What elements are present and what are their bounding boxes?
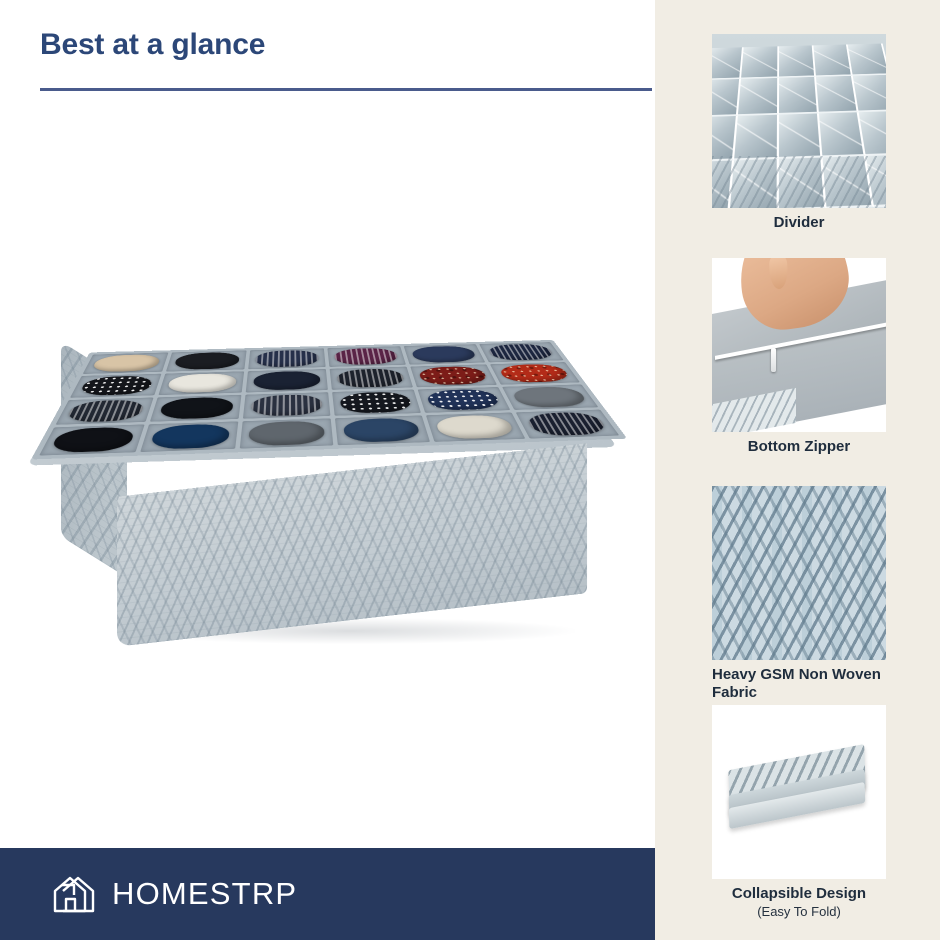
rolled-item bbox=[64, 400, 146, 423]
feature-label-fabric: Heavy GSM Non Woven Fabric bbox=[712, 666, 886, 701]
divider-base-fabric bbox=[712, 156, 886, 208]
compartment bbox=[248, 348, 325, 369]
feature-card-fabric: Heavy GSM Non Woven Fabric bbox=[712, 486, 886, 701]
divider-cell bbox=[712, 47, 744, 80]
divider-cell bbox=[779, 45, 816, 78]
divider-cell bbox=[741, 46, 779, 79]
feature-card-collapsible: Collapsible Design (Easy To Fold) bbox=[712, 705, 886, 919]
compartment bbox=[150, 395, 242, 422]
feature-card-bottom-zipper: Bottom Zipper bbox=[712, 258, 886, 456]
feature-label-divider: Divider bbox=[712, 214, 886, 232]
compartment bbox=[516, 410, 620, 439]
compartment bbox=[479, 342, 563, 362]
organizer-front-panel bbox=[117, 443, 587, 647]
rolled-item bbox=[78, 376, 155, 396]
feature-label-bottom-zipper: Bottom Zipper bbox=[712, 438, 886, 456]
zipper-pull-tab bbox=[771, 348, 776, 372]
rolled-item bbox=[173, 352, 241, 370]
divider-cell bbox=[816, 76, 859, 114]
drawer-organizer-illustration bbox=[55, 270, 625, 660]
rolled-item bbox=[342, 418, 422, 443]
house-logo-icon bbox=[52, 873, 98, 915]
divider-cell bbox=[738, 78, 779, 116]
collapsible-design-image bbox=[712, 705, 886, 879]
zipper-art bbox=[712, 258, 886, 432]
divider-grid-image bbox=[712, 34, 886, 208]
rolled-item bbox=[333, 348, 399, 365]
compartment bbox=[490, 362, 580, 385]
brand-lockup: HOMESTRP bbox=[52, 873, 297, 915]
compartment bbox=[39, 424, 145, 455]
folded-organizer-art bbox=[712, 705, 886, 879]
main-content-column: Best at a glance bbox=[0, 0, 655, 940]
rolled-item bbox=[158, 397, 235, 420]
compartment bbox=[426, 412, 525, 441]
divider-cell bbox=[848, 43, 886, 75]
compartment bbox=[418, 387, 511, 413]
divider-art bbox=[712, 34, 886, 208]
hero-product-image bbox=[55, 270, 625, 660]
divider-cell bbox=[814, 44, 854, 77]
compartment bbox=[166, 350, 247, 371]
rolled-item bbox=[166, 373, 238, 393]
fabric-texture bbox=[117, 443, 587, 647]
divider-cell bbox=[779, 113, 823, 158]
finger bbox=[769, 258, 789, 289]
compartment bbox=[56, 397, 154, 424]
organizer-compartment-grid bbox=[31, 340, 627, 460]
feature-sublabel-collapsible: (Easy To Fold) bbox=[712, 904, 886, 920]
rolled-item bbox=[149, 424, 231, 450]
rolled-item bbox=[336, 368, 406, 387]
compartment bbox=[327, 346, 406, 367]
compartment bbox=[404, 344, 486, 364]
fabric-swatch-art bbox=[712, 486, 886, 660]
compartment bbox=[335, 415, 430, 445]
product-infographic-page: Best at a glance bbox=[0, 0, 940, 940]
compartment bbox=[140, 421, 238, 452]
rolled-item bbox=[339, 392, 414, 414]
compartment bbox=[70, 374, 161, 398]
compartment bbox=[246, 369, 328, 393]
rolled-item bbox=[48, 427, 137, 453]
title-divider-rule bbox=[40, 88, 652, 91]
compartment bbox=[83, 353, 169, 374]
rolled-item bbox=[417, 366, 490, 385]
non-woven-fabric-image bbox=[712, 486, 886, 660]
feature-sidebar: Divider Bottom Zipper bbox=[655, 0, 940, 940]
page-title: Best at a glance bbox=[40, 28, 265, 62]
divider-cell bbox=[779, 77, 819, 115]
rolled-item bbox=[425, 389, 503, 411]
compartment bbox=[243, 392, 331, 419]
compartment bbox=[410, 364, 497, 387]
compartment bbox=[158, 371, 244, 395]
bottom-zipper-image bbox=[712, 258, 886, 432]
rolled-item bbox=[410, 346, 478, 363]
footer-bar: HOMESTRP bbox=[0, 848, 655, 940]
feature-card-divider: Divider bbox=[712, 34, 886, 232]
rolled-item bbox=[486, 344, 557, 361]
compartment bbox=[502, 384, 598, 410]
rolled-item bbox=[255, 350, 320, 368]
feature-label-collapsible: Collapsible Design bbox=[712, 885, 886, 903]
rolled-item bbox=[252, 371, 321, 391]
compartment bbox=[332, 390, 421, 416]
divider-cell bbox=[712, 79, 741, 117]
rolled-item bbox=[247, 421, 325, 446]
compartment bbox=[330, 367, 413, 390]
rolled-item bbox=[509, 386, 590, 407]
rolled-item bbox=[90, 354, 162, 372]
rolled-item bbox=[250, 394, 323, 416]
brand-name: HOMESTRP bbox=[112, 876, 297, 912]
divider-cell bbox=[853, 74, 886, 112]
divider-cell bbox=[735, 115, 779, 160]
compartment bbox=[240, 418, 334, 448]
rolled-item bbox=[433, 415, 516, 440]
rolled-item bbox=[497, 364, 573, 383]
rolled-item bbox=[524, 412, 611, 436]
